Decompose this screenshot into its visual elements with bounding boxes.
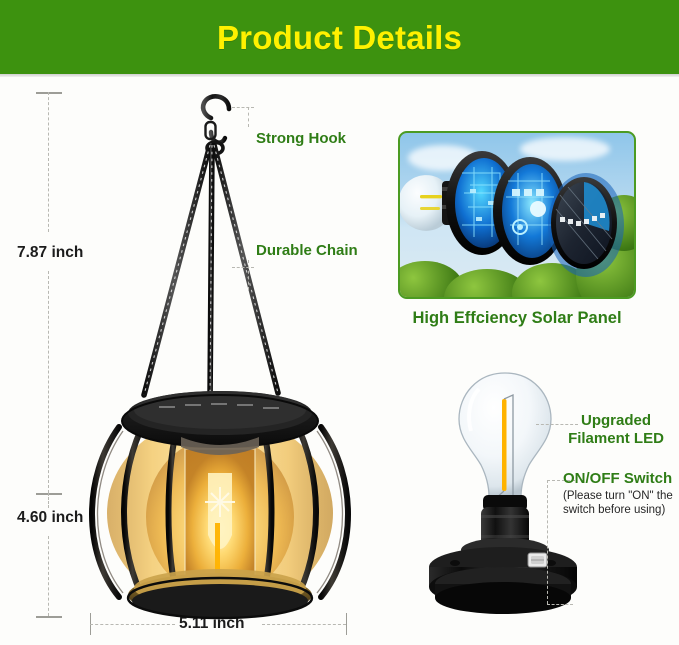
solar-panel-inset — [398, 131, 636, 299]
exploded-components-illustration — [400, 133, 636, 299]
dim-line-width-right — [262, 624, 346, 625]
page-title: Product Details — [217, 21, 462, 54]
dim-line-width-left — [90, 624, 175, 625]
callout-on-off-switch: ON/OFF Switch — [563, 470, 672, 488]
leader-drop-strong-hook — [248, 107, 249, 127]
callout-durable-chain: Durable Chain — [256, 242, 358, 260]
inset-caption: High Effciency Solar Panel — [398, 309, 636, 328]
solar-lantern-illustration — [75, 385, 365, 620]
product-details-infographic: Product Details 7.87 inch 4.60 inch 5.11… — [0, 0, 679, 645]
dim-cap-bottom — [36, 616, 62, 618]
callout-strong-hook: Strong Hook — [256, 130, 346, 148]
dim-line-total-upper — [48, 92, 49, 232]
leader-line-durable-chain — [232, 267, 254, 268]
on-off-switch-note: (Please turn "ON" the switch before usin… — [563, 489, 673, 518]
filament-bulb-base-illustration — [425, 365, 585, 615]
note-line-1: (Please turn "ON" the — [563, 489, 673, 503]
header-divider — [0, 74, 679, 77]
callout-upgraded-filament-led: Upgraded Filament LED — [557, 412, 675, 447]
dim-line-body-upper — [48, 493, 49, 508]
dim-line-body-lower — [48, 536, 49, 616]
solar-panel-disc — [548, 173, 624, 277]
header-banner: Product Details — [0, 0, 679, 74]
leader-drop-on-off-switch — [547, 480, 548, 604]
dim-line-total-lower — [48, 271, 49, 493]
dim-cap-mid — [36, 493, 62, 495]
dimension-label-height-total: 7.87 inch — [14, 243, 86, 263]
leader-line-strong-hook — [232, 107, 254, 108]
dim-cap-top — [36, 92, 62, 94]
callout-line-2: Filament LED — [557, 430, 675, 448]
leader-line-on-off-switch-lower — [547, 604, 573, 605]
callout-line-1: Upgraded — [557, 412, 675, 430]
durable-chain-illustration — [118, 143, 303, 408]
power-switch — [528, 553, 547, 567]
leader-drop-durable-chain — [248, 260, 249, 290]
note-line-2: switch before using) — [563, 503, 673, 517]
